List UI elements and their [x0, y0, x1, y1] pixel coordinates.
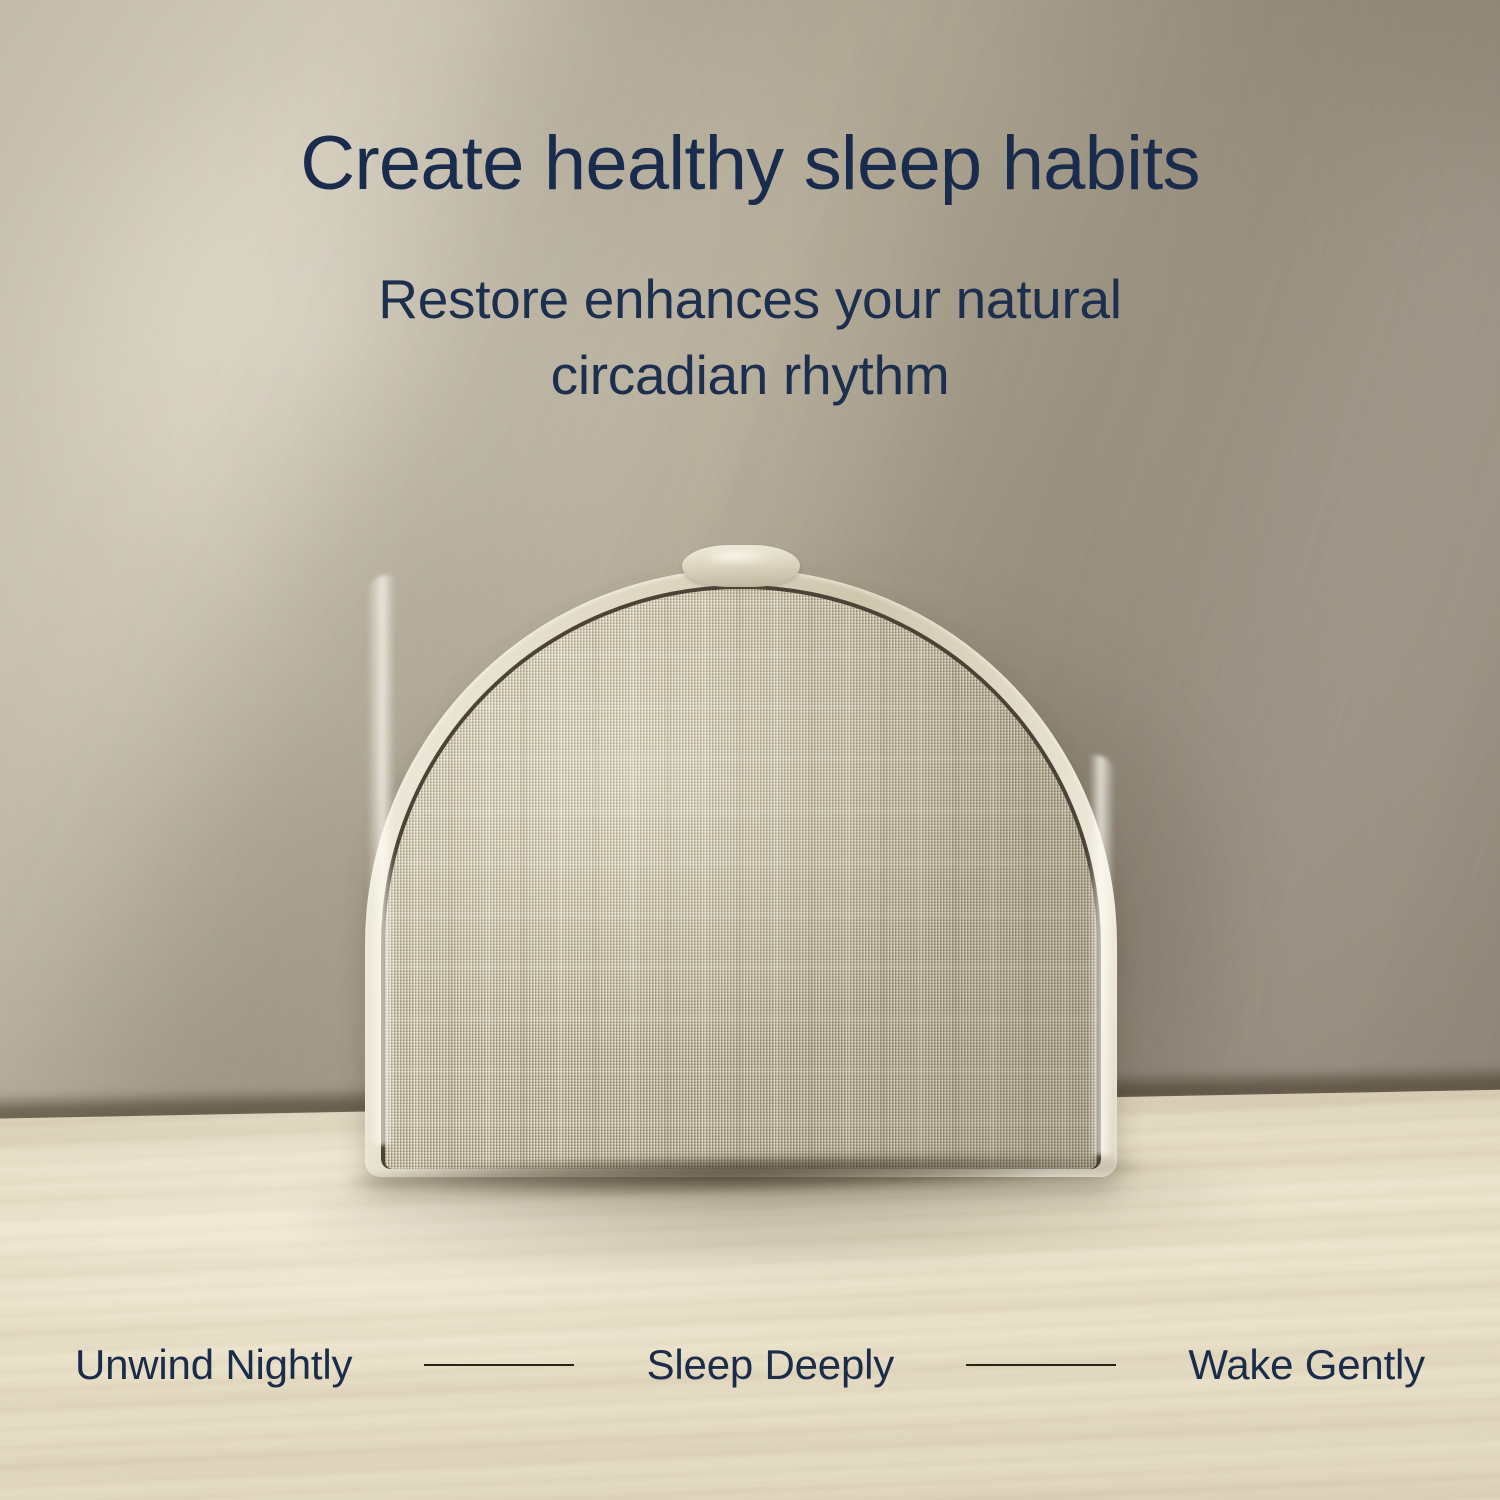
feature-label-wake: Wake Gently	[1188, 1341, 1425, 1389]
feature-connector-2	[966, 1364, 1116, 1366]
fabric-shading	[385, 589, 1097, 1169]
product-restore-device	[365, 545, 1117, 1177]
product-marketing-image: Create healthy sleep habits Restore enha…	[0, 0, 1500, 1500]
knob-highlight	[708, 551, 774, 565]
subtitle-line-2: circadian rhythm	[250, 338, 1250, 414]
rim-highlight-right	[1089, 755, 1115, 1155]
feature-row: Unwind Nightly Sleep Deeply Wake Gently	[75, 1330, 1425, 1400]
feature-label-sleep: Sleep Deeply	[647, 1341, 894, 1389]
rim-highlight-left	[367, 575, 395, 1145]
top-knob-icon	[682, 545, 800, 587]
subtitle-line-1: Restore enhances your natural	[250, 262, 1250, 338]
feature-label-unwind: Unwind Nightly	[75, 1341, 352, 1389]
page-title: Create healthy sleep habits	[0, 124, 1500, 204]
product-fabric-face	[385, 589, 1097, 1169]
feature-connector-1	[424, 1364, 574, 1366]
page-subtitle: Restore enhances your natural circadian …	[250, 262, 1250, 414]
